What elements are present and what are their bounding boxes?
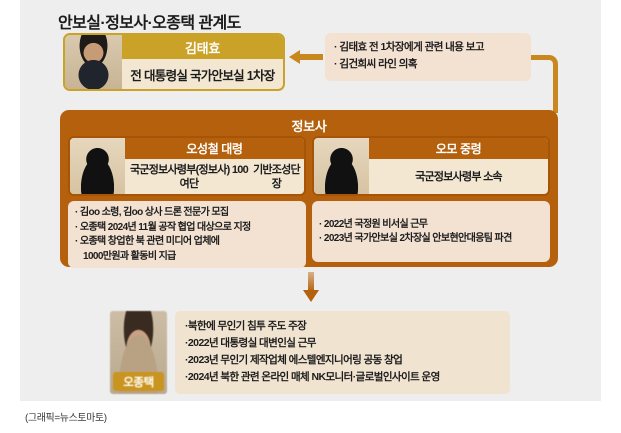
officer-role-line2: 기반조성단장 [251,163,302,191]
arrow-shaft [297,54,323,60]
arrow-shaft [308,272,314,292]
fact-item: 오종택 창업한 북 관련 미디어 업체에 1000만원과 활동비 지급 [75,235,300,264]
officer-name: 오성철 대령 [125,138,304,159]
fact-text-continued: 1000만원과 활동비 지급 [83,250,300,265]
officer-role-line1: 국군정보사령부 소속 [415,170,502,184]
person-card-oh-jong-taek: 오종택 북한에 무인기 침투 주도 주장 2022년 대통령실 대변인실 근무 … [110,311,510,394]
note-line: 김태효 전 1차장에게 관련 내용 보고 [334,39,523,56]
org-column-left: 오성철 대령 국군정보사령부(정보사) 100여단 기반조성단장 김oo 소령,… [68,136,306,268]
person-card-kim-tae-hyo: 김태효 전 대통령실 국가안보실 1차장 [63,33,285,91]
org-columns: 오성철 대령 국군정보사령부(정보사) 100여단 기반조성단장 김oo 소령,… [64,136,554,268]
fact-text: 2022년 국정원 비서실 근무 [324,219,427,230]
person-name-badge: 오종택 [113,372,164,391]
fact-list-bottom: 북한에 무인기 침투 주도 주장 2022년 대통령실 대변인실 근무 2023… [175,311,510,394]
fact-item: 2022년 대통령실 대변인실 근무 [185,335,502,352]
officer-role: 국군정보사령부 소속 [369,159,548,194]
fact-text: 오종택 창업한 북 관련 미디어 업체에 [80,236,220,247]
fact-item: 2023년 국가안보실 2차장실 안보현안대응팀 파견 [319,232,544,247]
page-title: 안보실·정보사·오종택 관계도 [58,9,241,33]
silhouette-avatar-icon [314,138,369,194]
portrait-photo-icon [65,35,122,89]
fact-item: 2022년 국정원 비서실 근무 [319,218,544,233]
portrait-photo-icon: 오종택 [110,311,167,394]
officer-card-oh-mo: 오모 중령 국군정보사령부 소속 [312,136,550,196]
fact-item: 2024년 북한 관련 온라인 매체 NK모니터·글로벌인사이트 운영 [185,369,502,386]
officer-card-oh-sung-chul: 오성철 대령 국군정보사령부(정보사) 100여단 기반조성단장 [68,136,306,196]
org-panel-jeongbosa: 정보사 오성철 대령 국군정보사령부(정보사) 100여단 기반조성단장 김 [60,110,558,267]
person-name: 김태효 [122,35,283,59]
fact-item: 북한에 무인기 침투 주도 주장 [185,318,502,335]
note-box-top: 김태효 전 1차장에게 관련 내용 보고 김건희씨 라인 의혹 [325,33,531,81]
org-column-right: 오모 중령 국군정보사령부 소속 2022년 국정원 비서실 근무 2023년 … [312,136,550,268]
silhouette-avatar-icon [70,138,125,194]
fact-text: 2023년 국가안보실 2차장실 안보현안대응팀 파견 [324,233,512,244]
officer-role-line1: 국군정보사령부(정보사) 100여단 [127,163,251,191]
connector-line [531,55,558,113]
arrow-down-icon [303,272,319,302]
source-credit: (그래픽=뉴스토마토) [25,409,107,424]
fact-item: 오종택 2024년 11월 공작 협업 대상으로 지정 [75,221,300,236]
person-card-body: 김태효 전 대통령실 국가안보실 1차장 [122,35,283,89]
fact-item: 김oo 소령, 김oo 상사 드론 전문가 모집 [75,206,300,221]
fact-list-left: 김oo 소령, 김oo 상사 드론 전문가 모집 오종택 2024년 11월 공… [68,201,306,268]
fact-text: 오종택 2024년 11월 공작 협업 대상으로 지정 [80,222,251,233]
arrow-head [303,290,319,302]
officer-card-body: 오성철 대령 국군정보사령부(정보사) 100여단 기반조성단장 [125,138,304,194]
fact-text: 김oo 소령, 김oo 상사 드론 전문가 모집 [80,207,229,218]
officer-role: 국군정보사령부(정보사) 100여단 기반조성단장 [125,159,304,194]
person-role: 전 대통령실 국가안보실 1차장 [122,59,283,89]
org-title: 정보사 [64,114,554,136]
infographic-root: 안보실·정보사·오종택 관계도 김태효 전 대통령실 국가안보실 1차장 김태효… [0,0,621,433]
arrow-head [289,50,300,64]
arrow-left-icon [289,50,323,64]
note-line: 김건희씨 라인 의혹 [334,56,523,73]
fact-list-right: 2022년 국정원 비서실 근무 2023년 국가안보실 2차장실 안보현안대응… [312,201,550,262]
fact-item: 2023년 무인기 제작업체 에스텔엔지니어링 공동 창업 [185,352,502,369]
officer-name: 오모 중령 [369,138,548,159]
officer-card-body: 오모 중령 국군정보사령부 소속 [369,138,548,194]
